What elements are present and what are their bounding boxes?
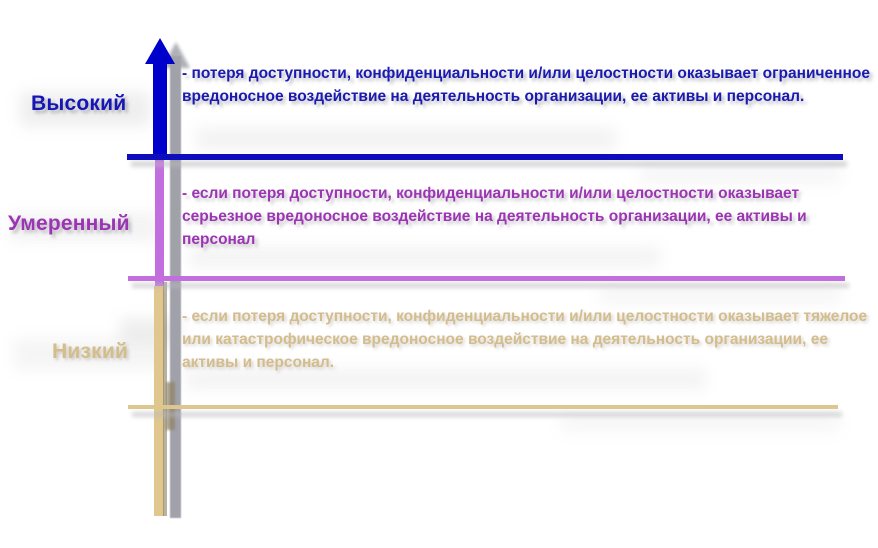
level-description-moderate: - если потеря доступности, конфиденциаль… (182, 182, 854, 251)
level-description-low: - если потеря доступности, конфиденциаль… (182, 305, 878, 374)
arrow-segment-high (153, 60, 167, 160)
divider-high-shadow (131, 161, 847, 167)
level-label-low: Низкий (52, 340, 128, 364)
divider-high (127, 154, 843, 160)
level-label-moderate: Умеренный (8, 212, 130, 236)
arrow-head-icon (145, 38, 175, 64)
divider-moderate (128, 276, 845, 281)
arrow-shaft-node (163, 282, 167, 516)
background-smudge (196, 128, 616, 150)
arrow-segment-low (154, 286, 164, 516)
divider-low (128, 405, 838, 409)
impact-levels-diagram: Высокий Умеренный Низкий - потеря доступ… (0, 0, 878, 548)
level-label-high: Высокий (31, 92, 126, 116)
divider-low-shadow (132, 412, 842, 417)
background-smudge (120, 318, 180, 344)
level-description-high: - потеря доступности, конфиденциальности… (182, 62, 874, 108)
divider-moderate-shadow (132, 283, 849, 288)
background-smudge (600, 286, 840, 304)
arrow-segment-moderate (155, 160, 164, 286)
